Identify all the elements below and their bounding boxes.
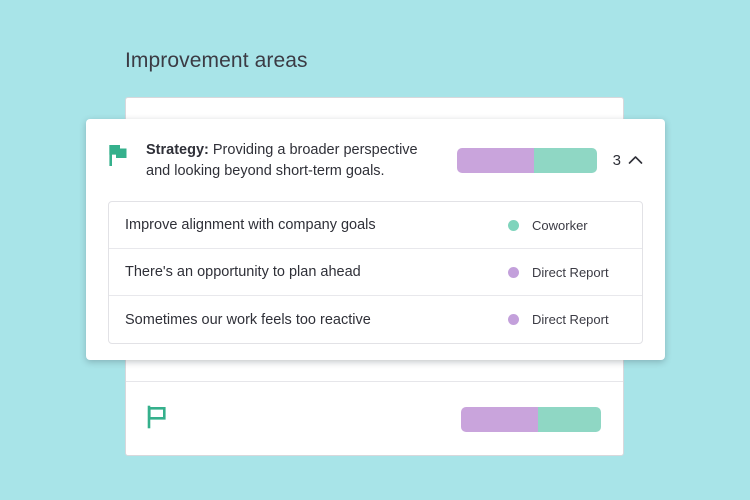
- strategy-card-header[interactable]: Strategy: Providing a broader perspectiv…: [86, 119, 665, 182]
- insight-count: 3: [613, 152, 621, 169]
- list-item-source: Direct Report: [532, 265, 618, 280]
- source-dot-icon: [508, 314, 519, 325]
- list-item[interactable]: Sometimes our work feels too reactive Di…: [109, 296, 642, 343]
- source-dot-icon: [508, 267, 519, 278]
- page-title: Improvement areas: [125, 49, 308, 73]
- background-card-row[interactable]: [126, 382, 623, 456]
- list-item-meta: Coworker: [508, 218, 618, 233]
- list-item-text: Sometimes our work feels too reactive: [125, 312, 508, 328]
- list-item-source: Direct Report: [532, 312, 618, 327]
- list-item-meta: Direct Report: [508, 312, 618, 327]
- list-item-text: There's an opportunity to plan ahead: [125, 264, 508, 280]
- flag-outline-icon: [146, 405, 168, 434]
- strategy-heading: Strategy: Providing a broader perspectiv…: [146, 140, 457, 182]
- strategy-progress-bar: [457, 148, 597, 173]
- list-item[interactable]: Improve alignment with company goals Cow…: [109, 202, 642, 249]
- list-item-meta: Direct Report: [508, 265, 618, 280]
- insight-list: Improve alignment with company goals Cow…: [108, 201, 643, 344]
- strategy-header-controls: 3: [457, 148, 643, 173]
- skeleton-placeholder-group: [190, 418, 461, 420]
- list-item-text: Improve alignment with company goals: [125, 217, 508, 233]
- source-dot-icon: [508, 220, 519, 231]
- strategy-card: Strategy: Providing a broader perspectiv…: [86, 119, 665, 360]
- background-progress-bar: [461, 407, 601, 432]
- list-item[interactable]: There's an opportunity to plan ahead Dir…: [109, 249, 642, 296]
- strategy-heading-label: Strategy:: [146, 142, 209, 158]
- flag-filled-icon: [108, 143, 130, 173]
- progress-segment-teal: [538, 407, 601, 432]
- progress-segment-purple: [457, 148, 534, 173]
- progress-segment-teal: [534, 148, 597, 173]
- list-item-source: Coworker: [532, 218, 618, 233]
- progress-segment-purple: [461, 407, 538, 432]
- chevron-up-icon[interactable]: [628, 152, 643, 170]
